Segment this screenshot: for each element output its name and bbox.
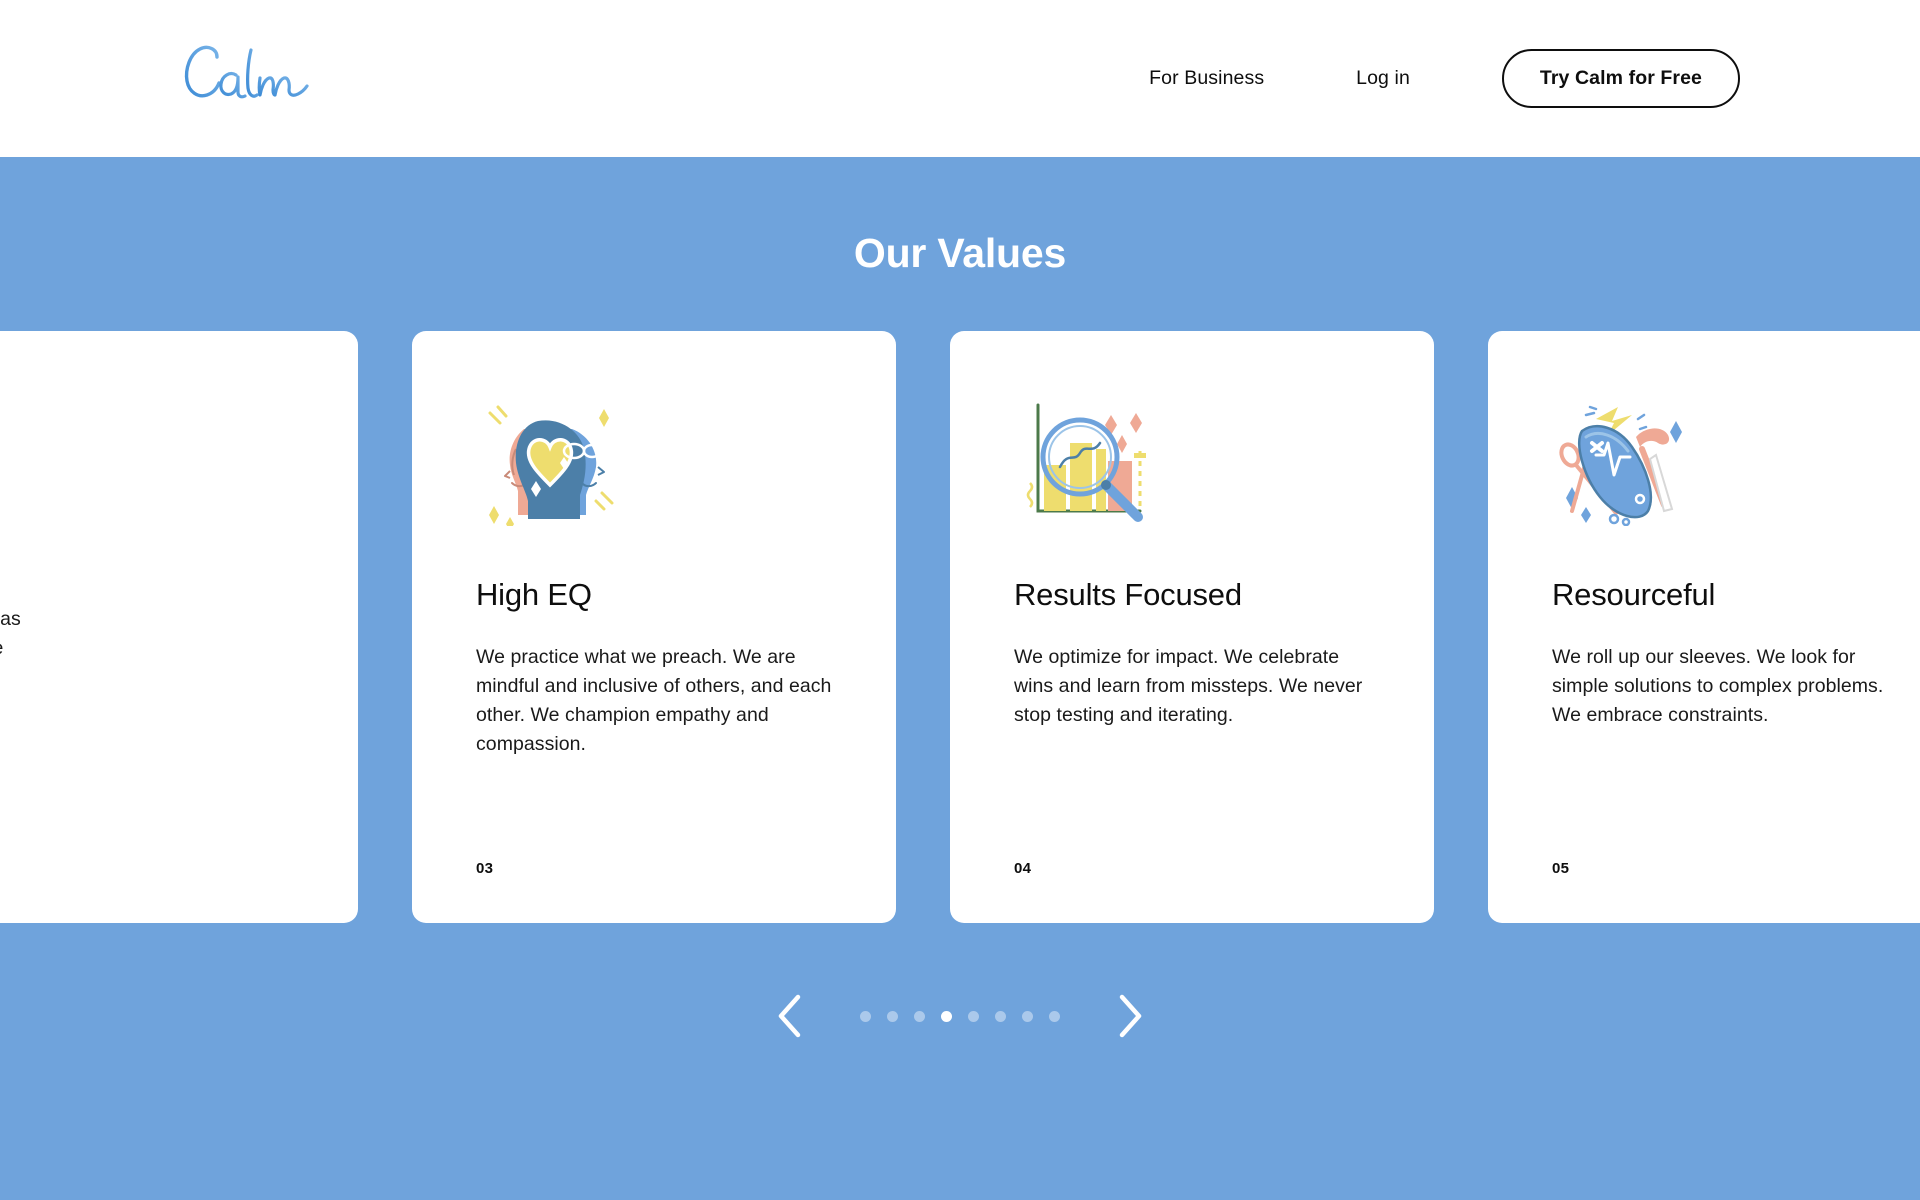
carousel-dot-1[interactable] [860,1011,871,1022]
calm-logo-wordmark [180,40,320,112]
partial-icon [0,391,88,526]
carousel-prev-button[interactable] [762,989,816,1043]
card-number-results-focused: 04 [1014,860,1031,877]
card-body-line: Calm has [0,608,21,630]
carousel-dot-8[interactable] [1049,1011,1060,1022]
site-header: For Business Log in Try Calm for Free [0,0,1920,157]
card-body-line: and the [0,637,3,659]
card-body-results-focused: We optimize for impact. We celebrate win… [1014,643,1370,730]
try-calm-for-free-button[interactable]: Try Calm for Free [1502,49,1740,109]
carousel-dot-7[interactable] [1022,1011,1033,1022]
calm-logo[interactable] [180,40,320,112]
value-card-results-focused[interactable]: Results Focused We optimize for impact. … [950,331,1434,923]
value-card-high-eq[interactable]: High EQ We practice what we preach. We a… [412,331,896,923]
carousel-dot-5[interactable] [968,1011,979,1022]
nav-log-in[interactable]: Log in [1356,57,1410,100]
carousel-dot-6[interactable] [995,1011,1006,1022]
card-title-results-focused: Results Focused [1014,576,1370,613]
two-heads-heart-icon [476,391,626,526]
carousel-dots [860,1011,1060,1022]
values-carousel-track[interactable]: rld. We Calm has and the [0,331,1920,923]
carousel-dot-4[interactable] [941,1011,952,1022]
carousel-dot-3[interactable] [914,1011,925,1022]
card-number-resourceful: 05 [1552,860,1569,877]
card-number-high-eq: 03 [476,860,493,877]
card-body-high-eq: We practice what we preach. We are mindf… [476,643,832,758]
value-card-resourceful[interactable]: Resourceful We roll up our sleeves. We l… [1488,331,1920,923]
main-navigation: For Business Log in Try Calm for Free [1149,0,1740,157]
carousel-dot-2[interactable] [887,1011,898,1022]
carousel-controls [0,989,1920,1043]
swiss-army-knife-icon [1552,391,1702,526]
chevron-right-icon [1116,993,1146,1039]
magnifier-bar-chart-icon [1014,391,1164,526]
our-values-section: Our Values rld. We Calm has and the [0,157,1920,1200]
section-title: Our Values [0,230,1920,277]
chevron-left-icon [774,993,804,1039]
nav-for-business[interactable]: For Business [1149,57,1264,100]
value-card-partial-left[interactable]: rld. We Calm has and the [0,331,358,923]
card-body-partial-left: rld. We Calm has and the [0,576,294,663]
carousel-next-button[interactable] [1104,989,1158,1043]
card-title-high-eq: High EQ [476,576,832,613]
card-body-resourceful: We roll up our sleeves. We look for simp… [1552,643,1908,730]
card-title-resourceful: Resourceful [1552,576,1908,613]
